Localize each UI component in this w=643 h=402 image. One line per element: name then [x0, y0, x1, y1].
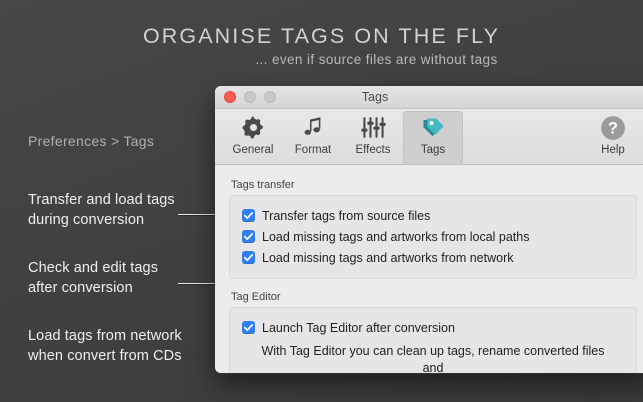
callout-line: Load tags from network: [28, 326, 182, 346]
music-note-icon: [283, 114, 343, 141]
breadcrumb: Preferences > Tags: [28, 133, 154, 149]
description-line: With Tag Editor you can clean up tags, r…: [258, 343, 608, 373]
callout-line: Transfer and load tags: [28, 190, 175, 210]
checkbox-label: Load missing tags and artworks from netw…: [262, 251, 514, 265]
preferences-toolbar: General Format: [215, 109, 643, 165]
group-box-tag-editor: Launch Tag Editor after conversion With …: [229, 307, 637, 373]
callout-load-tags-network: Load tags from network when convert from…: [28, 326, 182, 366]
question-mark-icon: ?: [583, 114, 643, 141]
preferences-content: Tags transfer Transfer tags from source …: [215, 165, 643, 372]
callout-check-edit-tags: Check and edit tags after conversion: [28, 258, 158, 298]
promo-headline: ORGANISE TAGS ON THE FLY: [0, 24, 643, 49]
checkbox-label: Load missing tags and artworks from loca…: [262, 230, 530, 244]
callout-transfer-tags: Transfer and load tags during conversion: [28, 190, 175, 230]
tags-icon: [403, 114, 463, 141]
group-spacer: [229, 279, 637, 291]
toolbar-item-help[interactable]: ? Help: [583, 111, 643, 156]
checkbox-load-local-paths[interactable]: [242, 230, 255, 243]
toolbar-item-format[interactable]: Format: [283, 111, 343, 156]
checkbox-transfer-tags[interactable]: [242, 209, 255, 222]
checkbox-row-transfer-tags[interactable]: Transfer tags from source files: [242, 205, 624, 226]
checkbox-load-network[interactable]: [242, 251, 255, 264]
window-title: Tags: [215, 90, 643, 104]
toolbar-item-tags[interactable]: Tags: [403, 111, 463, 165]
promo-background: ORGANISE TAGS ON THE FLY ... even if sou…: [0, 0, 643, 402]
toolbar-item-effects[interactable]: Effects: [343, 111, 403, 156]
checkbox-row-launch-tag-editor[interactable]: Launch Tag Editor after conversion: [242, 317, 624, 338]
toolbar-item-label: Help: [583, 144, 643, 156]
checkbox-label: Transfer tags from source files: [262, 209, 430, 223]
group-title-tags-transfer: Tags transfer: [231, 179, 637, 191]
toolbar-item-label: Effects: [343, 144, 403, 156]
callout-line: after conversion: [28, 278, 158, 298]
callout-line: when convert from CDs: [28, 346, 182, 366]
toolbar-item-label: Format: [283, 144, 343, 156]
checkbox-row-load-network[interactable]: Load missing tags and artworks from netw…: [242, 247, 624, 268]
callout-line: during conversion: [28, 210, 175, 230]
preferences-window: Tags General: [215, 86, 643, 373]
toolbar-item-label: Tags: [403, 144, 463, 156]
svg-text:?: ?: [608, 119, 618, 137]
toolbar-item-general[interactable]: General: [223, 111, 283, 156]
group-title-tag-editor: Tag Editor: [231, 291, 637, 303]
tag-editor-description: With Tag Editor you can clean up tags, r…: [242, 343, 624, 373]
toolbar-item-label: General: [223, 144, 283, 156]
window-titlebar: Tags: [215, 86, 643, 109]
checkbox-row-load-local-paths[interactable]: Load missing tags and artworks from loca…: [242, 226, 624, 247]
equalizer-sliders-icon: [343, 114, 403, 141]
gear-icon: [223, 114, 283, 141]
promo-subheadline: ... even if source files are without tag…: [0, 52, 643, 67]
checkbox-launch-tag-editor[interactable]: [242, 321, 255, 334]
group-box-tags-transfer: Transfer tags from source files Load mis…: [229, 195, 637, 279]
callout-line: Check and edit tags: [28, 258, 158, 278]
checkbox-label: Launch Tag Editor after conversion: [262, 321, 455, 335]
